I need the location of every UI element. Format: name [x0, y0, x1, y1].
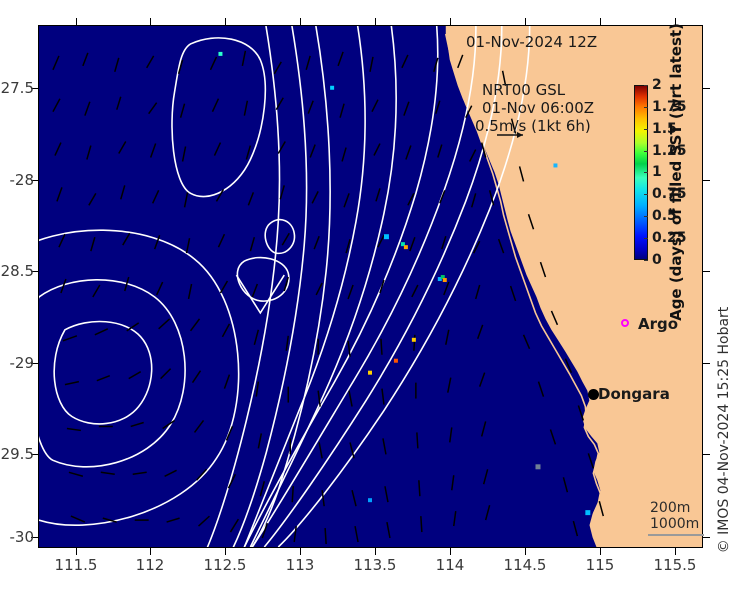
- vector-scale-arrow-icon: [496, 128, 530, 142]
- colorbar-title: Age (days) of filled SST (wrt latest): [667, 23, 685, 321]
- ytick-right--28: [703, 180, 710, 181]
- xtick-label-7: 115: [586, 556, 615, 574]
- map-svg: [39, 26, 702, 547]
- ytick-right--29-5: [703, 454, 710, 455]
- xtick-top-114-5: [525, 18, 526, 25]
- xtick-top-111-5: [76, 18, 77, 25]
- source-time-label: 01-Nov 06:00Z: [482, 99, 594, 117]
- colorbar-label-8: 2: [652, 77, 662, 93]
- xtick-label-1: 112: [136, 556, 165, 574]
- colorbar[interactable]: 0 0.25 0.5 0.75 1 1.25 1.5 1.75 2: [634, 85, 648, 260]
- xtick-top-112-5: [225, 18, 226, 25]
- xtick-114: [450, 548, 451, 555]
- source-product-label: NRT00 GSL: [482, 81, 565, 99]
- xtick-113-5: [375, 548, 376, 555]
- xtick-label-5: 114: [436, 556, 465, 574]
- xtick-top-113-5: [375, 18, 376, 25]
- vector-scale-label: 0.5m/s (1kt 6h): [475, 117, 591, 135]
- colorbar-label-0: 0: [652, 252, 662, 268]
- ytick-label-5: -30: [10, 528, 35, 546]
- copyright-credit: © IMOS 04-Nov-2024 15:25 Hobart: [716, 307, 732, 554]
- ytick-label-0: -27.5: [0, 79, 34, 97]
- argo-marker-icon: [621, 319, 629, 327]
- map-canvas: [39, 26, 702, 547]
- xtick-top-114: [450, 18, 451, 25]
- bathymetry-key-line: [648, 534, 704, 536]
- xtick-label-0: 111.5: [55, 556, 98, 574]
- xtick-top-113: [300, 18, 301, 25]
- bathymetry-label-1000m: 1000m: [650, 516, 699, 532]
- map-plot-area[interactable]: [38, 25, 703, 548]
- xtick-label-8: 115.5: [654, 556, 697, 574]
- xtick-111-5: [76, 548, 77, 555]
- figure-root: 111.5 112 112.5 113 113.5 114 114.5 115 …: [0, 0, 740, 592]
- colorbar-label-4: 1: [652, 164, 662, 180]
- ytick-right--29: [703, 363, 710, 364]
- ytick-right--28-5: [703, 271, 710, 272]
- map-title-datetime: 01-Nov-2024 12Z: [466, 33, 597, 51]
- xtick-114-5: [525, 548, 526, 555]
- xtick-112-5: [225, 548, 226, 555]
- xtick-label-6: 114.5: [504, 556, 547, 574]
- xtick-label-3: 113: [286, 556, 315, 574]
- ytick-label-1: -28: [10, 171, 35, 189]
- xtick-top-115: [600, 18, 601, 25]
- ytick-right--27-5: [703, 88, 710, 89]
- ytick-label-2: -28.5: [0, 262, 34, 280]
- colorbar-ticks: [634, 85, 648, 260]
- ytick-label-3: -29: [10, 354, 35, 372]
- xtick-top-112: [150, 18, 151, 25]
- xtick-115-5: [675, 548, 676, 555]
- xtick-115: [600, 548, 601, 555]
- bathymetry-label-200m: 200m: [650, 500, 690, 516]
- ytick-label-4: -29.5: [0, 445, 34, 463]
- dongara-place-label: Dongara: [598, 385, 670, 403]
- xtick-112: [150, 548, 151, 555]
- xtick-113: [300, 548, 301, 555]
- ytick-right--30: [703, 537, 710, 538]
- xtick-label-2: 112.5: [204, 556, 247, 574]
- xtick-label-4: 113.5: [354, 556, 397, 574]
